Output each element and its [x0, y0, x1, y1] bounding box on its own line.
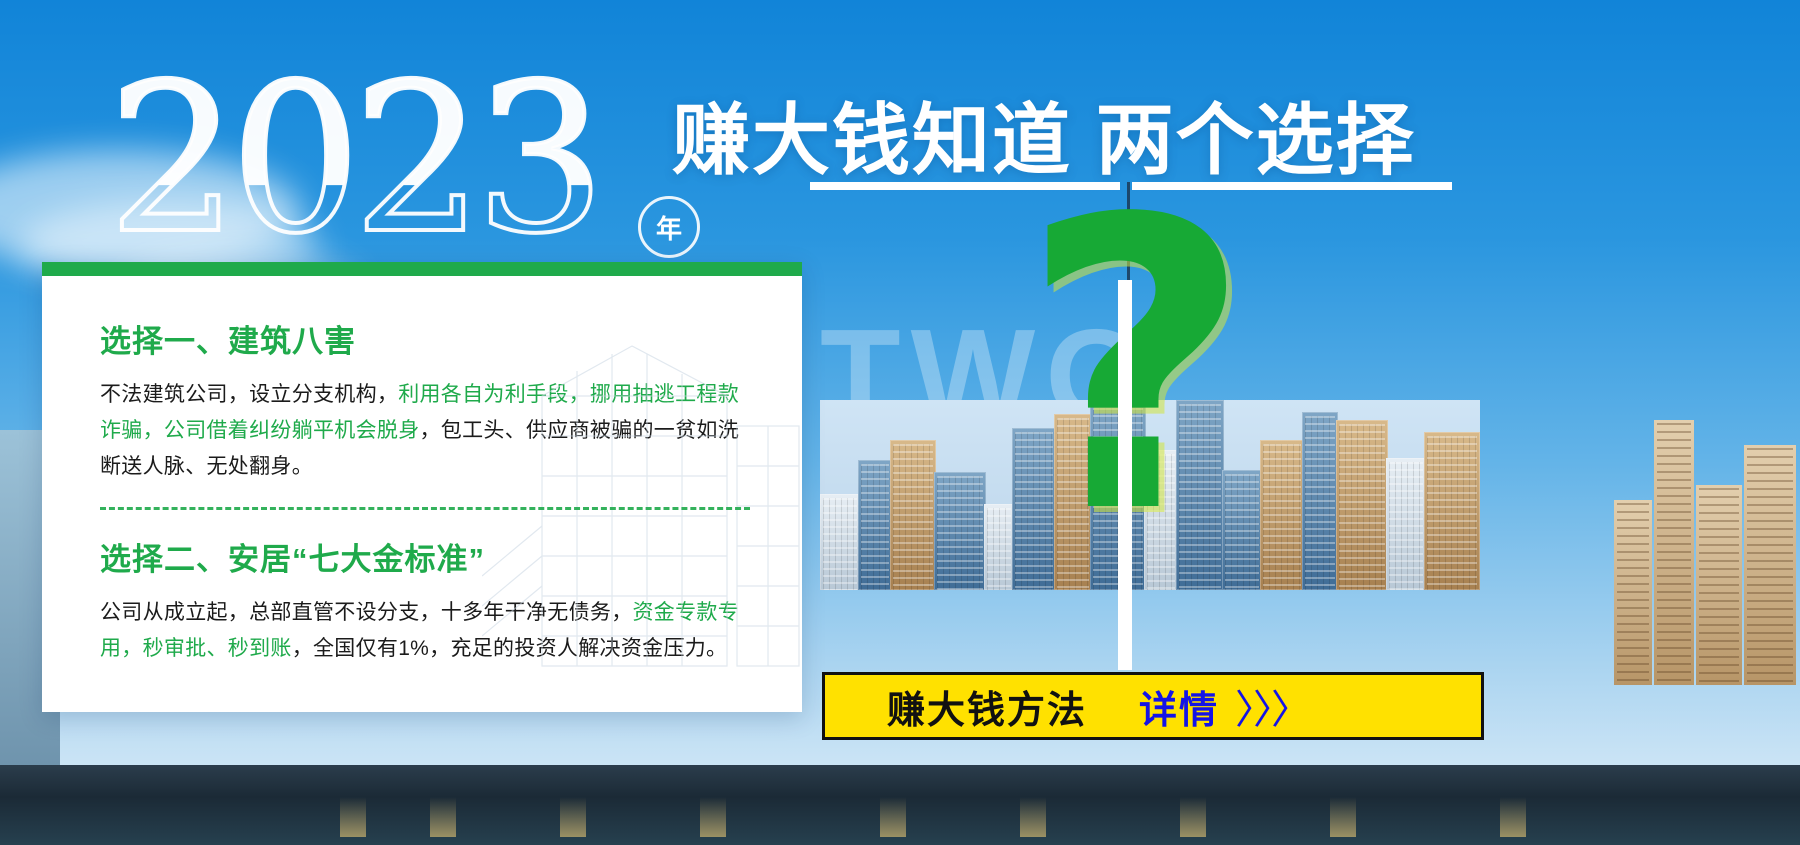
right-buildings-photo	[1610, 400, 1800, 765]
section-1-title: 选择一、建筑八害	[100, 316, 750, 361]
chevron-right-icon: 〉〉〉	[1235, 677, 1309, 735]
section-2-paragraph: 公司从成立起，总部直管不设分支，十多年干净无债务，资金专款专用，秒审批、秒到账，…	[100, 595, 750, 667]
section-divider	[100, 507, 750, 510]
cta-banner[interactable]: 赚大钱方法 详情 〉〉〉	[822, 672, 1484, 740]
year-unit-badge: 年	[638, 196, 700, 258]
year-number-outline: 2023	[108, 58, 598, 263]
cta-main-label: 赚大钱方法	[887, 679, 1087, 734]
cta-detail-link[interactable]: 详情	[1139, 679, 1219, 734]
section-1-text-a: 不法建筑公司，设立分支机构，	[100, 383, 398, 406]
card-accent-bar	[42, 262, 802, 276]
poster-canvas: 2023 2023 年 赚大钱知道 两个选择 TWO CHOICES ? 赚大钱…	[0, 0, 1800, 845]
question-mark-slit	[1118, 280, 1132, 670]
section-2-text-c: ，全国仅有1%，充足的投资人解决资金压力。	[292, 637, 728, 660]
section-1-paragraph: 不法建筑公司，设立分支机构，利用各自为利手段，挪用抽逃工程款诈骗，公司借着纠纷躺…	[100, 377, 750, 485]
content-card: 选择一、建筑八害 不法建筑公司，设立分支机构，利用各自为利手段，挪用抽逃工程款诈…	[42, 262, 802, 712]
section-2-title: 选择二、安居“七大金标准”	[100, 534, 750, 579]
section-2-text-a: 公司从成立起，总部直管不设分支，十多年干净无债务，	[100, 601, 633, 624]
question-mark-graphic: ?	[1020, 205, 1252, 533]
bottom-photo-strip	[0, 765, 1800, 845]
